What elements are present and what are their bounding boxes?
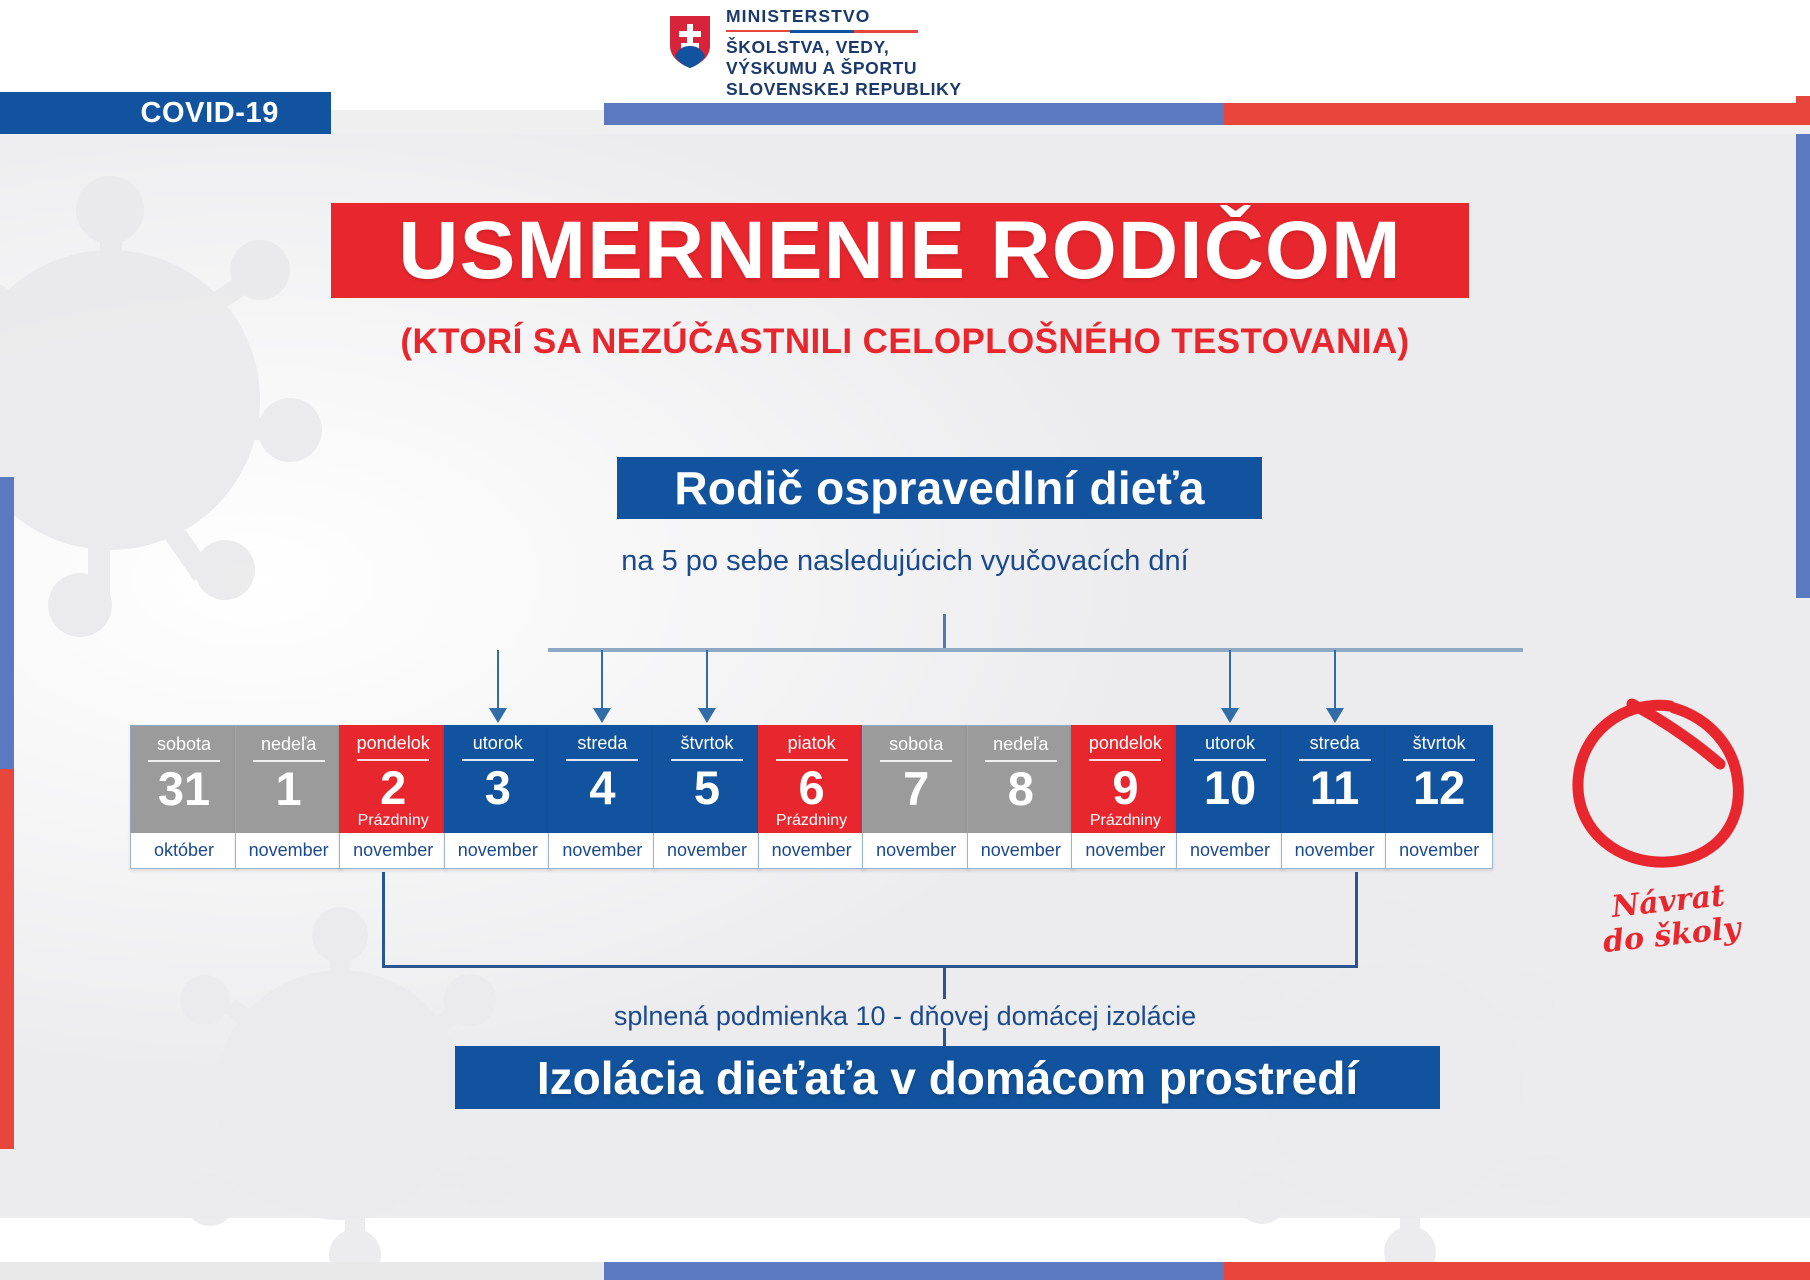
ministry-rule — [726, 30, 918, 33]
footer-strip-grey — [0, 1262, 604, 1280]
calendar-day-name: nedeľa — [993, 735, 1048, 753]
calendar-day-4: streda4november — [548, 725, 656, 869]
calendar-day-body: sobota31 — [130, 725, 238, 833]
calendar-day-6: piatok6Prázdninynovember — [758, 725, 866, 869]
arrow-line-day-10 — [1229, 650, 1231, 709]
slovak-coat-of-arms-icon — [668, 14, 712, 70]
infographic-canvas: COVID-19 MINISTERSTVO ŠKOLSTVA, VEDY, VÝ… — [0, 0, 1810, 1280]
calendar-day-9: pondelok9Prázdninynovember — [1071, 725, 1179, 869]
calendar-day-8: nedeľa8november — [967, 725, 1075, 869]
arrow-line-day-5 — [706, 650, 708, 709]
isolation-banner: Izolácia dieťaťa v domácom prostredí — [455, 1046, 1440, 1109]
calendar-day-holiday-label: Prázdniny — [1090, 813, 1161, 829]
calendar-day-month: november — [653, 833, 761, 869]
ministry-title-line2: ŠKOLSTVA, VEDY, — [726, 37, 962, 58]
calendar-day-name: štvrtok — [1413, 734, 1466, 752]
calendar-day-number: 9 — [1112, 763, 1138, 812]
calendar-day-body: pondelok2Prázdniny — [339, 725, 447, 833]
ministry-title-line4: SLOVENSKEJ REPUBLIKY — [726, 79, 962, 100]
calendar-day-body: utorok3 — [444, 725, 552, 833]
arrow-line-day-11 — [1334, 650, 1336, 709]
calendar-day-month: november — [1071, 833, 1179, 869]
calendar-day-month: november — [339, 833, 447, 869]
section-note: na 5 po sebe nasledujúcich vyučovacích d… — [0, 545, 1810, 578]
calendar-day-month: november — [1385, 833, 1493, 869]
calendar-day-number: 3 — [485, 763, 511, 812]
calendar-day-number: 1 — [276, 764, 302, 813]
main-title: USMERNENIE RODIČOM — [398, 204, 1402, 298]
calendar-day-number: 7 — [903, 764, 929, 813]
bracket-bottom-bar — [382, 965, 1358, 968]
calendar-day-name: pondelok — [357, 734, 430, 752]
calendar-day-month: november — [758, 833, 866, 869]
calendar-strip: sobota31októbernedeľa1novemberpondelok2P… — [130, 725, 1680, 870]
calendar-day-number: 10 — [1204, 763, 1256, 812]
isolation-condition-note: splnená podmienka 10 - dňovej domácej iz… — [0, 1001, 1810, 1032]
ministry-logo: MINISTERSTVO ŠKOLSTVA, VEDY, VÝSKUMU A Š… — [668, 8, 1138, 100]
calendar-day-holiday-label: Prázdniny — [358, 813, 429, 829]
calendar-day-7: sobota7november — [862, 725, 970, 869]
ministry-title-line1: MINISTERSTVO — [726, 8, 962, 29]
header-accent-red — [1224, 103, 1810, 125]
calendar-day-number: 12 — [1413, 763, 1465, 812]
calendar-day-5: štvrtok5november — [653, 725, 761, 869]
calendar-day-month: november — [1176, 833, 1284, 869]
calendar-day-number: 5 — [694, 763, 720, 812]
calendar-day-body: štvrtok5 — [653, 725, 761, 833]
covid-19-badge-label: COVID-19 — [140, 97, 331, 130]
bracket-center-stem — [943, 965, 946, 999]
calendar-day-number: 2 — [380, 763, 406, 812]
covid-19-badge: COVID-19 — [0, 92, 331, 134]
isolation-banner-label: Izolácia dieťaťa v domácom prostredí — [537, 1051, 1358, 1105]
calendar-day-31: sobota31október — [130, 725, 238, 869]
calendar-day-number: 31 — [158, 764, 210, 813]
calendar-day-number: 11 — [1310, 763, 1360, 812]
calendar-day-body: štvrtok12 — [1385, 725, 1493, 833]
bracket-right-leg — [1355, 872, 1358, 968]
calendar-day-body: streda11 — [1281, 725, 1389, 833]
footer-strip-blue — [604, 1262, 1224, 1280]
calendar-day-month: november — [444, 833, 552, 869]
calendar-day-month: november — [235, 833, 343, 869]
connector-horizontal-bar — [548, 648, 1523, 652]
calendar-day-name: nedeľa — [261, 735, 316, 753]
arrow-line-day-4 — [601, 650, 603, 709]
calendar-day-number: 4 — [589, 763, 615, 812]
calendar-day-12: štvrtok12november — [1385, 725, 1493, 869]
arrow-head-day-5 — [698, 708, 716, 723]
calendar-day-name: utorok — [473, 734, 523, 752]
calendar-day-month: október — [130, 833, 238, 869]
calendar-day-month: november — [548, 833, 656, 869]
section-headline: Rodič ospravedlní dieťa — [674, 461, 1204, 515]
calendar-day-name: streda — [577, 734, 627, 752]
arrow-line-day-3 — [497, 650, 499, 709]
arrow-head-day-11 — [1326, 708, 1344, 723]
arrow-head-day-3 — [489, 708, 507, 723]
footer-strip — [0, 1262, 1810, 1280]
footer-strip-red — [1224, 1262, 1810, 1280]
calendar-day-name: piatok — [788, 734, 836, 752]
connector-stem-top — [943, 614, 946, 650]
calendar-day-3: utorok3november — [444, 725, 552, 869]
calendar-day-number: 8 — [1008, 764, 1034, 813]
arrow-head-day-4 — [593, 708, 611, 723]
arrow-head-day-10 — [1221, 708, 1239, 723]
calendar-day-body: piatok6Prázdniny — [758, 725, 866, 833]
calendar-day-name: streda — [1310, 734, 1360, 752]
calendar-day-name: pondelok — [1089, 734, 1162, 752]
calendar-day-name: štvrtok — [680, 734, 733, 752]
ministry-title-line3: VÝSKUMU A ŠPORTU — [726, 58, 962, 79]
calendar-day-name: sobota — [157, 735, 211, 753]
calendar-day-number: 6 — [799, 763, 825, 812]
calendar-day-holiday-label: Prázdniny — [776, 813, 847, 829]
header-accent-blue — [604, 103, 1224, 125]
calendar-day-name: utorok — [1205, 734, 1255, 752]
section-headline-banner: Rodič ospravedlní dieťa — [617, 457, 1262, 519]
edge-strip-red-left — [0, 769, 14, 1149]
calendar-day-1: nedeľa1november — [235, 725, 343, 869]
calendar-day-name: sobota — [889, 735, 943, 753]
subtitle: (KTORÍ SA NEZÚČASTNILI CELOPLOŠNÉHO TEST… — [0, 322, 1810, 362]
calendar-day-month: november — [862, 833, 970, 869]
calendar-day-body: streda4 — [548, 725, 656, 833]
calendar-day-body: pondelok9Prázdniny — [1071, 725, 1179, 833]
calendar-day-body: nedeľa1 — [235, 725, 343, 833]
calendar-day-11: streda11november — [1281, 725, 1389, 869]
calendar-day-month: november — [1281, 833, 1389, 869]
calendar-day-body: nedeľa8 — [967, 725, 1075, 833]
calendar-day-month: november — [967, 833, 1075, 869]
calendar-day-body: utorok10 — [1176, 725, 1284, 833]
calendar-day-2: pondelok2Prázdninynovember — [339, 725, 447, 869]
bracket-left-leg — [382, 872, 385, 968]
edge-strip-blue-left — [0, 477, 14, 769]
calendar-day-body: sobota7 — [862, 725, 970, 833]
calendar-day-10: utorok10november — [1176, 725, 1284, 869]
main-title-banner: USMERNENIE RODIČOM — [331, 203, 1469, 298]
